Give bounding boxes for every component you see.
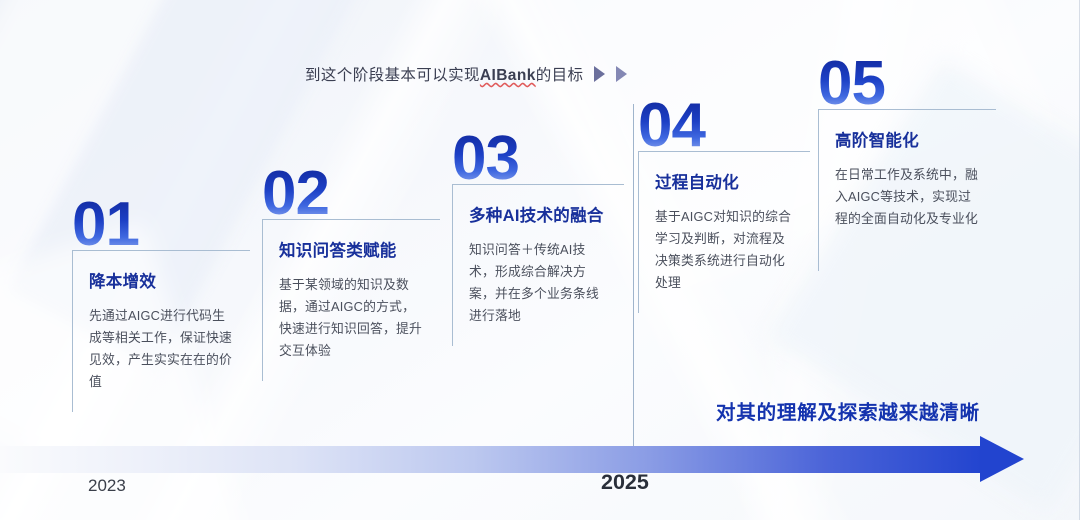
step-number: 04: [638, 97, 810, 154]
timeline-year-end: 2025: [601, 470, 649, 495]
highlight-phrase: 对其的理解及探索越来越清晰: [716, 396, 980, 425]
step-description: 基于AIGC对知识的综合学习及判断，对流程及决策类系统进行自动化处理: [655, 206, 796, 294]
slide-canvas: 到这个阶段基本可以实现AIBank的目标 01 降本增效 先通过AIGC进行代码…: [0, 0, 1080, 520]
step-card-body: 多种AI技术的融合 知识问答＋传统AI技术，形成综合解决方案，并在多个业务条线进…: [452, 184, 624, 346]
step-title: 降本增效: [89, 268, 236, 292]
chevron-right-icon: [616, 66, 627, 82]
step-description: 知识问答＋传统AI技术，形成综合解决方案，并在多个业务条线进行落地: [469, 239, 610, 327]
step-card-body: 降本增效 先通过AIGC进行代码生成等相关工作，保证快速见效，产生实实在在的价值: [72, 250, 250, 412]
step-number: 02: [262, 165, 440, 222]
timeline-arrow: [0, 441, 1080, 485]
right-arrow-icon: [980, 436, 1024, 482]
step-description: 先通过AIGC进行代码生成等相关工作，保证快速见效，产生实实在在的价值: [89, 305, 236, 393]
chevron-right-icon: [594, 66, 605, 82]
step-card-05[interactable]: 05 高阶智能化 在日常工作及系统中，融入AIGC等技术，实现过程的全面自动化及…: [818, 55, 996, 271]
step-card-01[interactable]: 01 降本增效 先通过AIGC进行代码生成等相关工作，保证快速见效，产生实实在在…: [72, 196, 250, 412]
step-number: 05: [818, 55, 996, 112]
step-number: 03: [452, 130, 624, 187]
step-card-body: 知识问答类赋能 基于某领域的知识及数据，通过AIGC的方式，快速进行知识回答，提…: [262, 219, 440, 381]
timeline-year-start: 2023: [88, 476, 126, 496]
step-title: 多种AI技术的融合: [469, 202, 610, 226]
step-description: 基于某领域的知识及数据，通过AIGC的方式，快速进行知识回答，提升交互体验: [279, 274, 426, 362]
step-description: 在日常工作及系统中，融入AIGC等技术，实现过程的全面自动化及专业化: [835, 164, 982, 230]
step-card-02[interactable]: 02 知识问答类赋能 基于某领域的知识及数据，通过AIGC的方式，快速进行知识回…: [262, 165, 440, 381]
timeline-bar: [0, 446, 984, 473]
annotation-text-before: 到这个阶段基本可以实现: [305, 67, 480, 84]
step-number: 01: [72, 196, 250, 253]
step-title: 知识问答类赋能: [279, 237, 426, 261]
annotation-text: 到这个阶段基本可以实现AIBank的目标: [305, 63, 583, 85]
top-annotation: 到这个阶段基本可以实现AIBank的目标: [305, 63, 627, 85]
annotation-highlight-word: AIBank: [480, 67, 536, 84]
step-card-body: 过程自动化 基于AIGC对知识的综合学习及判断，对流程及决策类系统进行自动化处理: [638, 151, 810, 313]
step-card-body: 高阶智能化 在日常工作及系统中，融入AIGC等技术，实现过程的全面自动化及专业化: [818, 109, 996, 271]
milestone-divider-line: [633, 104, 634, 449]
annotation-text-after: 的目标: [536, 67, 584, 84]
step-title: 过程自动化: [655, 169, 796, 193]
step-card-04[interactable]: 04 过程自动化 基于AIGC对知识的综合学习及判断，对流程及决策类系统进行自动…: [638, 97, 810, 313]
step-card-03[interactable]: 03 多种AI技术的融合 知识问答＋传统AI技术，形成综合解决方案，并在多个业务…: [452, 130, 624, 346]
step-title: 高阶智能化: [835, 127, 982, 151]
